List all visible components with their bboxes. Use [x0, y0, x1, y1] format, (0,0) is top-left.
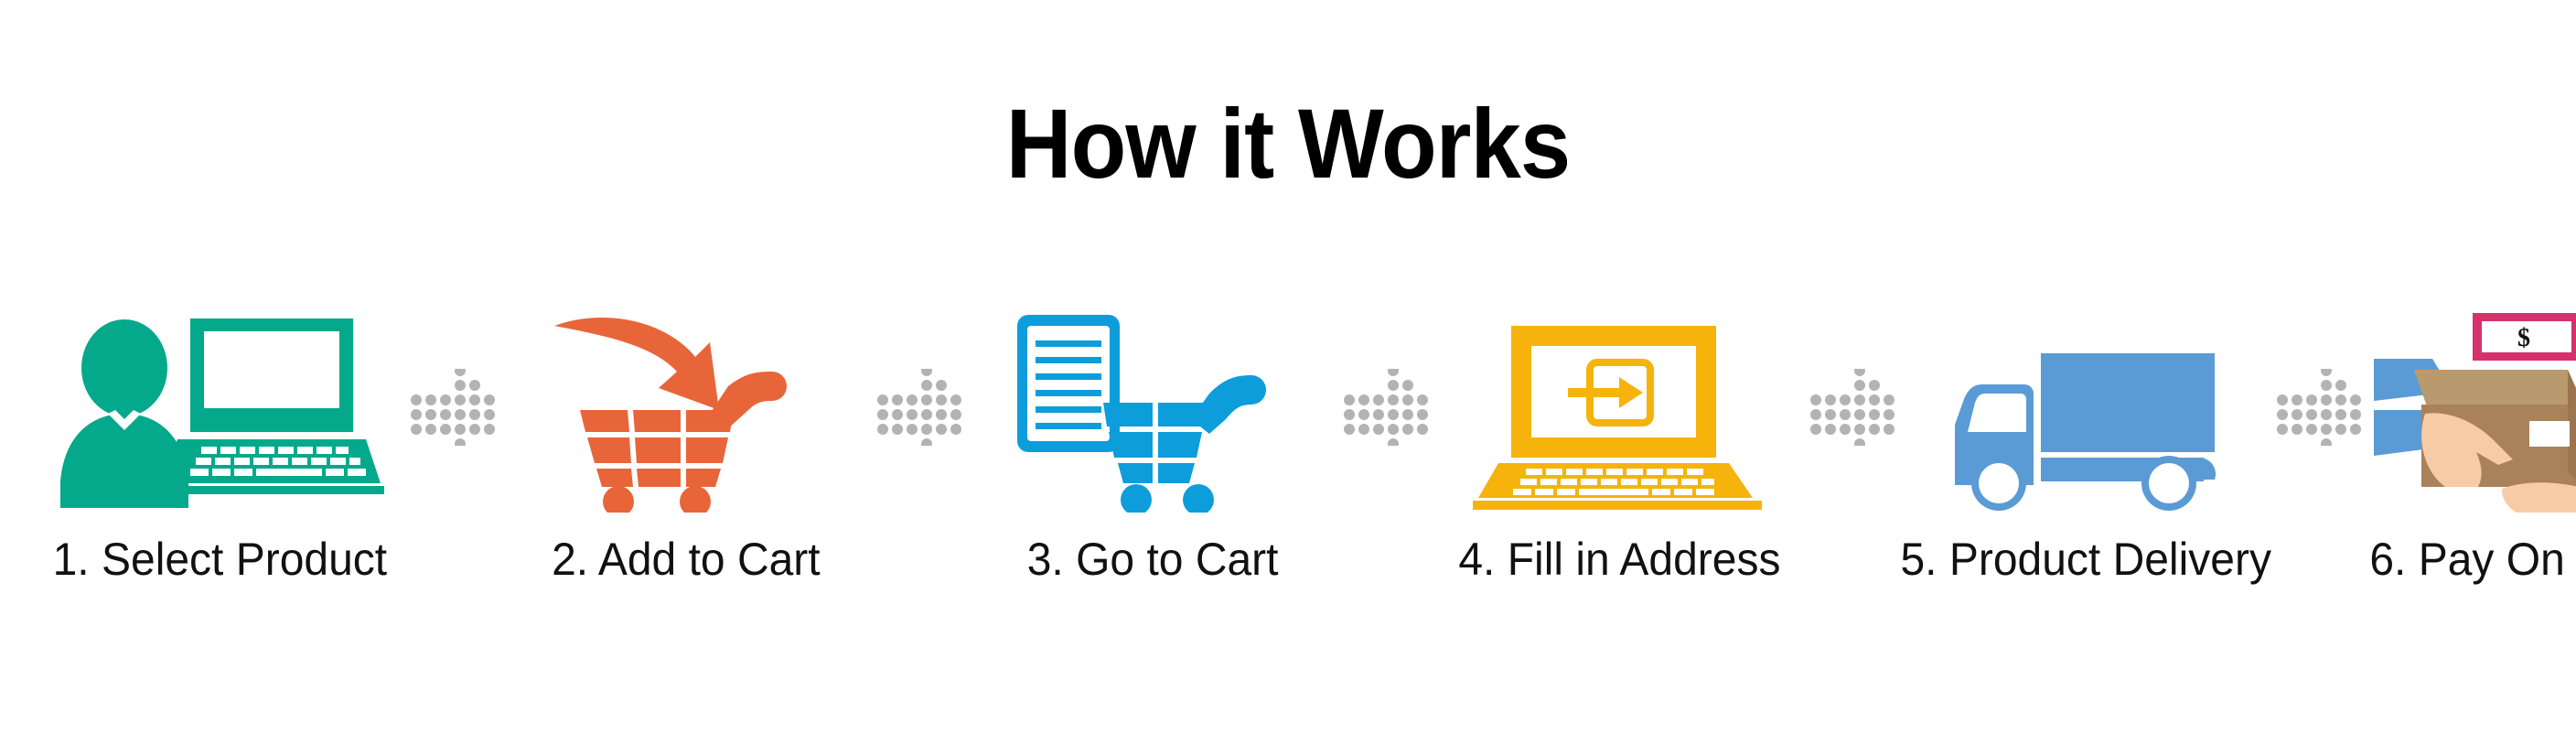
dotted-arrow-right-icon [1336, 302, 1436, 513]
laptop-with-login-arrow-icon [1436, 302, 1802, 513]
step-3-go-to-cart[interactable]: 3. Go to Cart [970, 302, 1336, 584]
delivery-truck-icon [1903, 302, 2269, 513]
step-5-label: 5. Product Delivery [1900, 534, 2270, 584]
dotted-arrow-right-icon [1802, 302, 1903, 513]
step-1-label: 1. Select Product [52, 534, 387, 584]
dotted-arrow-right-icon [2269, 302, 2369, 513]
document-with-cart-icon [970, 302, 1336, 513]
step-6-pay-on-delivery[interactable]: $ [2369, 302, 2576, 584]
step-2-add-to-cart[interactable]: 2. Add to Cart [503, 302, 869, 584]
money-dollar-symbol: $ [2517, 324, 2530, 352]
person-at-laptop-icon [37, 302, 402, 513]
step-4-fill-in-address[interactable]: 4. Fill in Address [1436, 302, 1802, 584]
step-2-label: 2. Add to Cart [552, 534, 821, 584]
dotted-arrow-right-icon [402, 302, 503, 513]
steps-strip: 1. Select Product [37, 302, 2543, 622]
dotted-arrow-right-icon [869, 302, 970, 513]
hands-exchanging-box-and-money-icon: $ [2369, 302, 2576, 513]
arrow-into-shopping-cart-icon [503, 302, 869, 513]
step-3-label: 3. Go to Cart [1027, 534, 1279, 584]
step-1-select-product[interactable]: 1. Select Product [37, 302, 402, 584]
step-5-product-delivery[interactable]: 5. Product Delivery [1903, 302, 2269, 584]
how-it-works-infographic: How it Works [0, 0, 2576, 745]
step-4-label: 4. Fill in Address [1458, 534, 1780, 584]
page-title: How it Works [103, 93, 2474, 194]
step-6-label: 6. Pay On Delivery [2369, 534, 2576, 584]
